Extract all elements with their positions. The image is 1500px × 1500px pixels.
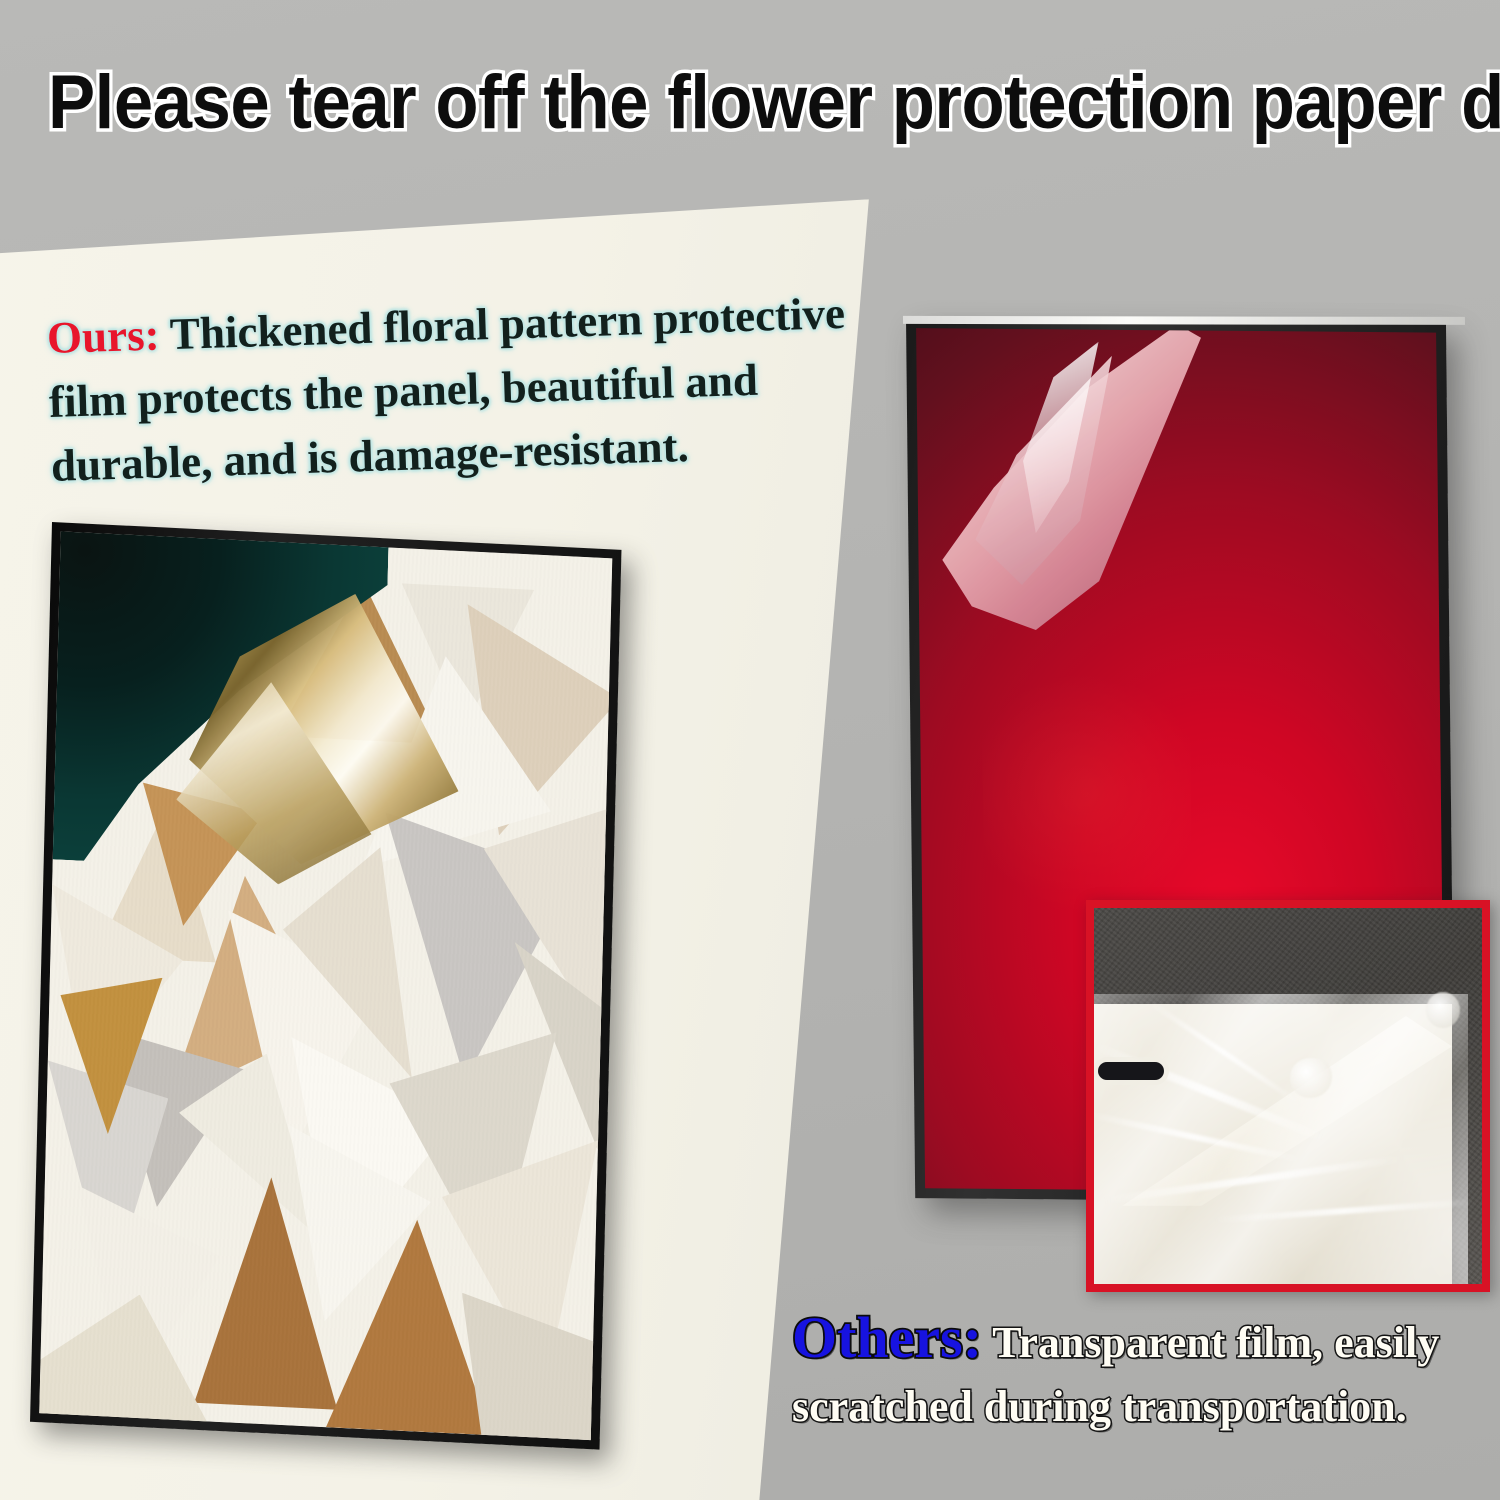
inset-black-handle bbox=[1098, 1062, 1164, 1080]
others-label: Others: bbox=[792, 1305, 982, 1370]
ours-label: Ours: bbox=[46, 309, 160, 363]
red-panel-top-edge-highlight bbox=[903, 316, 1465, 325]
product-comparison-graphic: Please tear off the flower protection pa… bbox=[0, 0, 1500, 1500]
ours-description: Ours: Thickened floral pattern protectiv… bbox=[46, 281, 862, 498]
left-panel-face: 邑色A悟所 bbox=[39, 531, 612, 1440]
page-title: Please tear off the flower protection pa… bbox=[48, 62, 1369, 144]
inset-corner-bubble bbox=[1426, 992, 1460, 1028]
left-product-panel: 邑色A悟所 bbox=[30, 522, 621, 1450]
inset-plastic-wrap bbox=[1086, 994, 1468, 1292]
left-panel-frame: 邑色A悟所 bbox=[30, 522, 621, 1450]
ours-body: Thickened floral pattern protective film… bbox=[48, 288, 845, 491]
others-description: Others: Transparent film, easily scratch… bbox=[792, 1306, 1492, 1439]
red-panel-sheen bbox=[982, 655, 1193, 932]
transparent-film-inset-photo bbox=[1086, 900, 1490, 1292]
